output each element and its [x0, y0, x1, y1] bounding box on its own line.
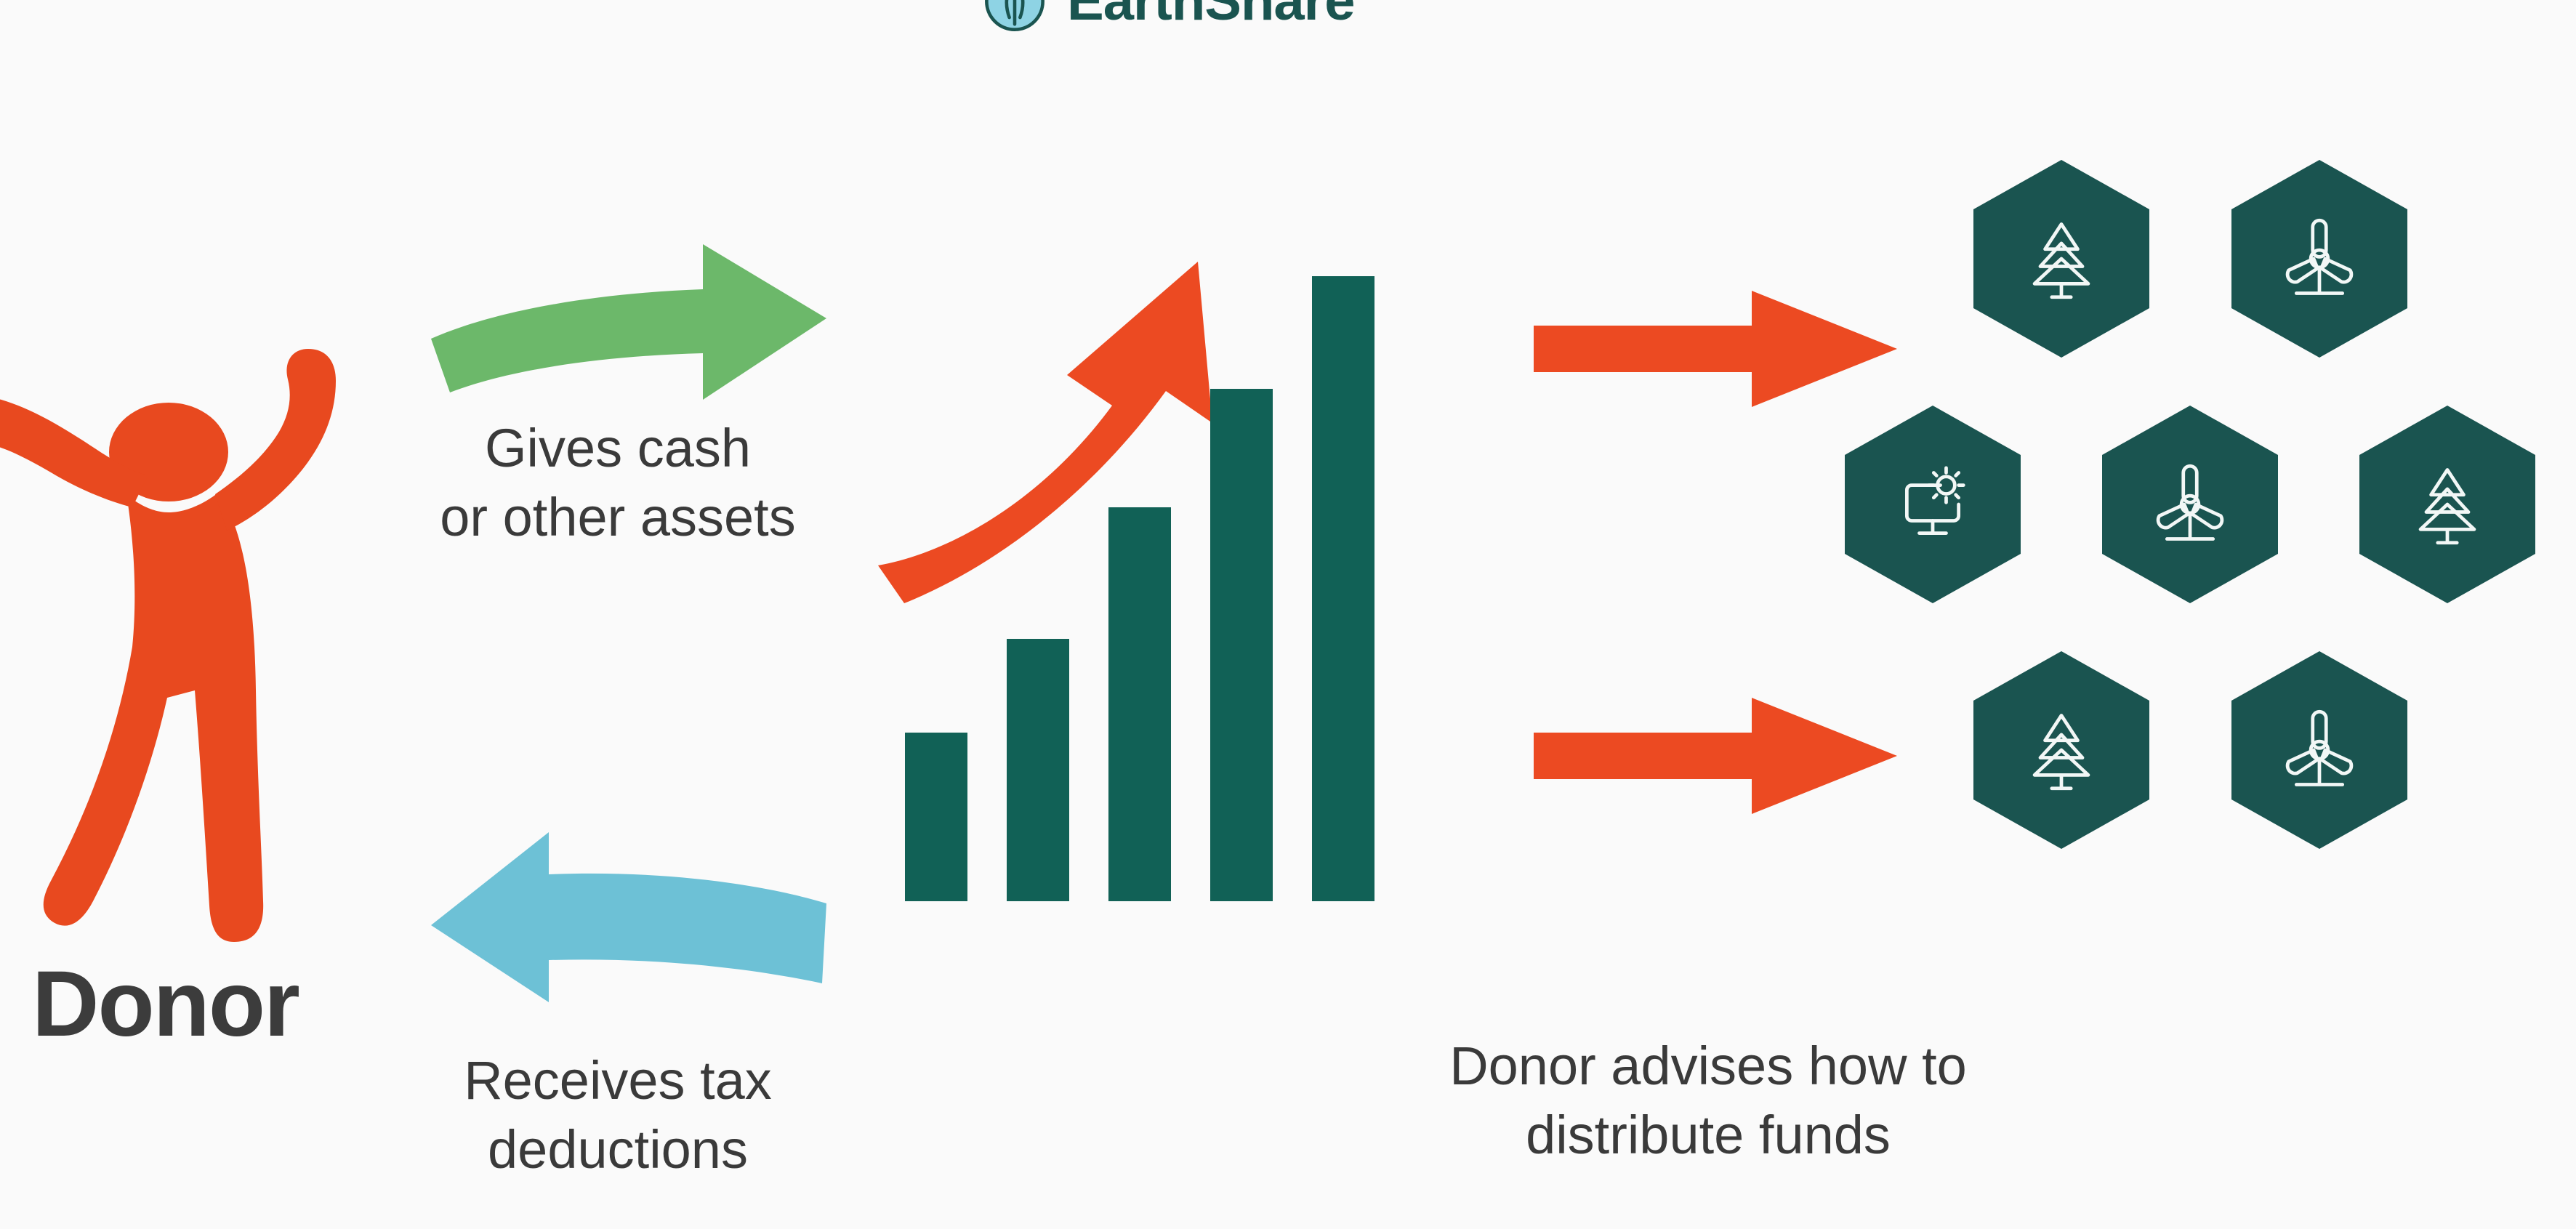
globe-leaf-icon	[981, 0, 1048, 35]
hex-tile-turbine[interactable]	[2102, 406, 2278, 603]
bar-2	[1007, 639, 1069, 901]
tree-icon	[2399, 456, 2495, 552]
hex-tile-turbine[interactable]	[2231, 651, 2407, 849]
turbine-icon	[2271, 211, 2367, 307]
hex-tile-tree[interactable]	[1973, 160, 2149, 358]
turbine-icon	[2271, 702, 2367, 798]
page-title-donor: Donor	[32, 958, 299, 1051]
curved-arrow-left-icon	[418, 818, 840, 1018]
hex-tile-solar[interactable]	[1845, 406, 2021, 603]
turbine-icon	[2142, 456, 2238, 552]
growth-bar-chart	[905, 276, 1479, 901]
hex-tile-turbine[interactable]	[2231, 160, 2407, 358]
person-arms-raised-icon	[0, 182, 378, 974]
brand-wordmark: EarthShare	[1067, 0, 1355, 35]
bar-5	[1312, 276, 1374, 901]
curved-arrow-right-icon	[418, 231, 840, 413]
caption-receives-tax-deductions: Receives tax deductions	[349, 1047, 887, 1184]
bar-4	[1210, 389, 1273, 901]
tree-icon	[2013, 702, 2109, 798]
infographic-canvas: EarthShare Donor	[0, 0, 2576, 1229]
bar-3	[1108, 507, 1171, 901]
solar-icon	[1885, 456, 1981, 552]
tree-icon	[2013, 211, 2109, 307]
brand-header: EarthShare	[981, 0, 1355, 35]
bar-1	[905, 733, 967, 901]
caption-donor-advises: Donor advises how to distribute funds	[1301, 1032, 2115, 1169]
hex-tile-tree[interactable]	[2359, 406, 2535, 603]
caption-gives-cash: Gives cash or other assets	[349, 414, 887, 552]
hex-tile-tree[interactable]	[1973, 651, 2149, 849]
project-hex-cluster	[1817, 145, 2576, 916]
